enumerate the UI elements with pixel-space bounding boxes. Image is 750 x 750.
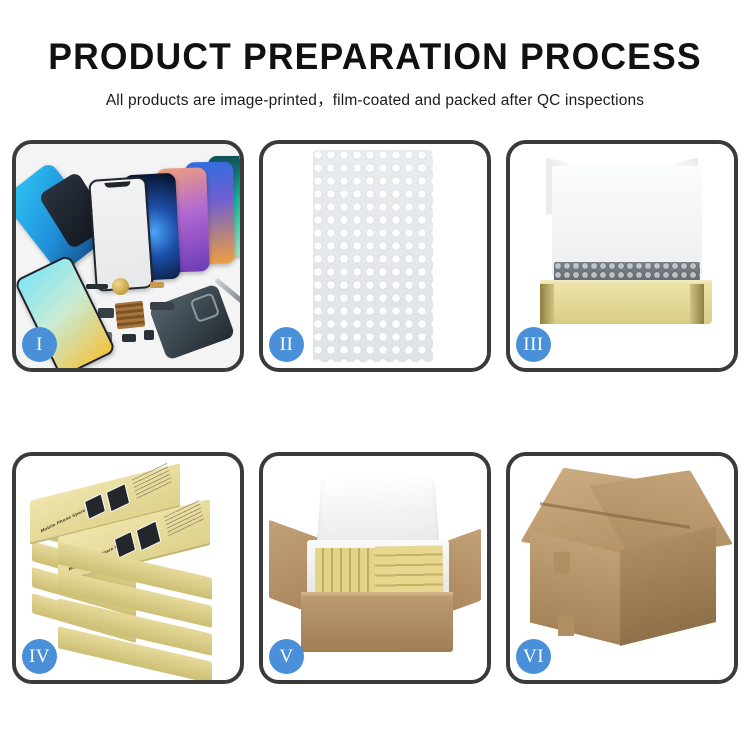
product-photo-icon (106, 483, 130, 513)
step-badge-5: V (269, 639, 304, 674)
process-grid: I II (0, 140, 750, 684)
phone-chassis-icon (149, 283, 236, 360)
carton-tape-2-icon (558, 616, 574, 636)
page-subtitle: All products are image-printed，film-coat… (0, 88, 750, 110)
chip-part-icon (86, 284, 108, 289)
step-badge-4: IV (22, 639, 57, 674)
process-step-1[interactable]: I (12, 140, 244, 372)
box-edge-right-icon (690, 284, 704, 324)
small-part-2-icon (144, 330, 154, 340)
step-badge-1: I (22, 327, 57, 362)
step-badge-3: III (516, 327, 551, 362)
header: PRODUCT PREPARATION PROCESS All products… (0, 0, 750, 110)
flex-cable-icon (98, 308, 114, 318)
process-step-4[interactable]: Mobile Phone Spare Parts Mobile Phone Sp… (12, 452, 244, 684)
product-preparation-infographic: PRODUCT PREPARATION PROCESS All products… (0, 0, 750, 750)
bubble-wrap-icon (313, 150, 433, 362)
product-photo-icon (114, 531, 136, 559)
packed-boxes-2-icon (375, 545, 444, 596)
small-part-icon (122, 334, 136, 342)
coil-part-icon (112, 278, 129, 295)
carton-tape-icon (554, 552, 570, 574)
process-step-5[interactable]: V (259, 452, 491, 684)
process-step-2[interactable]: II (259, 140, 491, 372)
step-badge-6: VI (516, 639, 551, 674)
process-step-3[interactable]: III (506, 140, 738, 372)
box-front-icon (540, 284, 712, 324)
connector-part-icon (150, 282, 164, 288)
process-step-6[interactable]: VI (506, 452, 738, 684)
box-spec-lines-icon (132, 463, 172, 500)
flex-cable-2-icon (150, 302, 174, 310)
phone-glass-panel-icon (88, 176, 154, 292)
page-title: PRODUCT PREPARATION PROCESS (15, 38, 735, 75)
product-photo-icon (84, 493, 106, 520)
box-edge-left-icon (540, 284, 554, 324)
product-photo-icon (136, 520, 162, 551)
box-interior-icon (552, 166, 702, 276)
step-badge-2: II (269, 327, 304, 362)
styrofoam-lid-icon (316, 479, 439, 549)
carton-front-icon (301, 596, 453, 652)
screw-tray-icon (115, 301, 146, 330)
